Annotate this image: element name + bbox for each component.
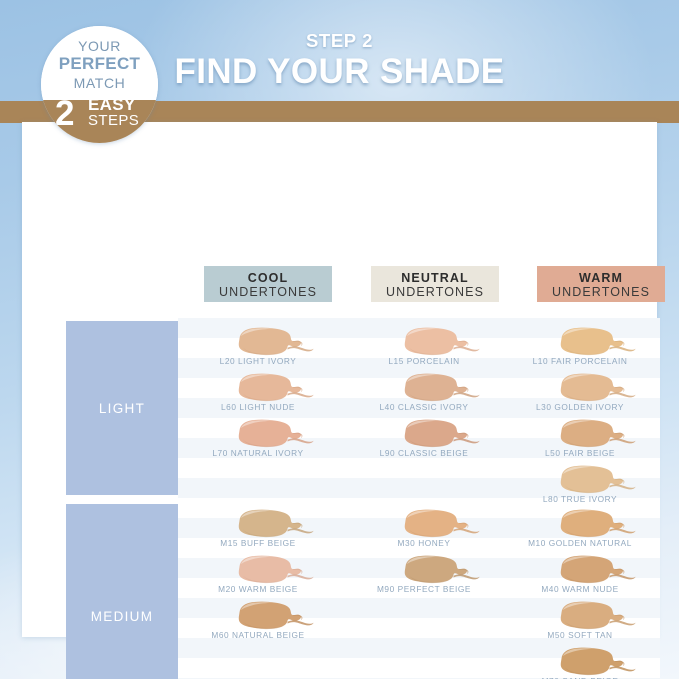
foundation-swatch-icon	[230, 326, 316, 357]
swatch-l15	[396, 326, 482, 357]
undertone-cool-title: COOL	[204, 271, 332, 285]
shade-cell[interactable]: M30 HONEY	[344, 508, 504, 554]
shade-cell[interactable]: M40 WARM NUDE	[500, 554, 660, 600]
undertone-header-neutral: NEUTRAL UNDERTONES	[371, 266, 499, 302]
shade-cell[interactable]: M70 SAND BEIGE	[500, 646, 660, 679]
foundation-swatch-icon	[230, 418, 316, 449]
foundation-swatch-icon	[230, 508, 316, 539]
perfect-match-badge: YOUR PERFECT MATCH 2 EASY STEPS	[41, 26, 158, 143]
swatch-m70	[552, 646, 638, 677]
swatch-m10	[552, 508, 638, 539]
shade-label: M20 WARM BEIGE	[178, 584, 338, 594]
shade-cell[interactable]: L70 NATURAL IVORY	[178, 418, 338, 464]
shade-label: M90 PERFECT BEIGE	[344, 584, 504, 594]
swatch-l20	[230, 326, 316, 357]
swatch-l70	[230, 418, 316, 449]
undertone-warm-title: WARM	[537, 271, 665, 285]
shade-label: M30 HONEY	[344, 538, 504, 548]
swatch-m90	[396, 554, 482, 585]
shade-cell[interactable]: L80 TRUE IVORY	[500, 464, 660, 510]
shade-cell[interactable]: L50 FAIR BEIGE	[500, 418, 660, 464]
foundation-swatch-icon	[552, 418, 638, 449]
foundation-swatch-icon	[396, 554, 482, 585]
badge-easy-label: EASY	[88, 96, 136, 113]
swatch-l60	[230, 372, 316, 403]
swatch-m40	[552, 554, 638, 585]
shade-cell[interactable]: M20 WARM BEIGE	[178, 554, 338, 600]
shade-cell[interactable]: M60 NATURAL BEIGE	[178, 600, 338, 646]
shade-label: L10 FAIR PORCELAIN	[500, 356, 660, 366]
badge-line-match: MATCH	[41, 75, 158, 91]
swatch-l40	[396, 372, 482, 403]
category-block-medium: MEDIUM	[66, 504, 178, 679]
shade-cell[interactable]: L20 LIGHT IVORY	[178, 326, 338, 372]
shade-label: M40 WARM NUDE	[500, 584, 660, 594]
foundation-swatch-icon	[396, 508, 482, 539]
category-block-light: LIGHT	[66, 321, 178, 495]
shade-label: L70 NATURAL IVORY	[178, 448, 338, 458]
foundation-swatch-icon	[552, 372, 638, 403]
foundation-swatch-icon	[396, 326, 482, 357]
foundation-swatch-icon	[552, 326, 638, 357]
badge-steps-label: STEPS	[88, 113, 139, 128]
swatch-l80	[552, 464, 638, 495]
shade-cell[interactable]: M50 SOFT TAN	[500, 600, 660, 646]
shade-label: L40 CLASSIC IVORY	[344, 402, 504, 412]
badge-line-your: YOUR	[41, 38, 158, 54]
shade-finder-page: STEP 2 FIND YOUR SHADE COOL UNDERTONES N…	[0, 0, 679, 679]
shade-cell[interactable]: L15 PORCELAIN	[344, 326, 504, 372]
foundation-swatch-icon	[396, 372, 482, 403]
undertone-neutral-title: NEUTRAL	[371, 271, 499, 285]
shade-cell[interactable]: M90 PERFECT BEIGE	[344, 554, 504, 600]
shade-cell[interactable]: L90 CLASSIC BEIGE	[344, 418, 504, 464]
undertone-warm-subtitle: UNDERTONES	[537, 285, 665, 299]
undertone-header-cool: COOL UNDERTONES	[204, 266, 332, 302]
shade-chart-card: COOL UNDERTONES NEUTRAL UNDERTONES WARM …	[22, 122, 657, 637]
shade-cell[interactable]: L60 LIGHT NUDE	[178, 372, 338, 418]
swatch-m60	[230, 600, 316, 631]
swatch-l30	[552, 372, 638, 403]
category-label-medium: MEDIUM	[91, 609, 154, 624]
foundation-swatch-icon	[396, 418, 482, 449]
undertone-neutral-subtitle: UNDERTONES	[371, 285, 499, 299]
shade-cell[interactable]: L30 GOLDEN IVORY	[500, 372, 660, 418]
shade-cell[interactable]: L10 FAIR PORCELAIN	[500, 326, 660, 372]
shade-label: L30 GOLDEN IVORY	[500, 402, 660, 412]
foundation-swatch-icon	[552, 554, 638, 585]
shade-label: L90 CLASSIC BEIGE	[344, 448, 504, 458]
shade-cell[interactable]: L40 CLASSIC IVORY	[344, 372, 504, 418]
swatch-l50	[552, 418, 638, 449]
foundation-swatch-icon	[552, 600, 638, 631]
category-label-light: LIGHT	[99, 401, 145, 416]
shade-label: L15 PORCELAIN	[344, 356, 504, 366]
shade-grid: L20 LIGHT IVORYL60 LIGHT NUDEL70 NATURAL…	[178, 318, 660, 679]
shade-cell[interactable]: M10 GOLDEN NATURAL	[500, 508, 660, 554]
swatch-m30	[396, 508, 482, 539]
swatch-l90	[396, 418, 482, 449]
undertone-header-warm: WARM UNDERTONES	[537, 266, 665, 302]
shade-label: M50 SOFT TAN	[500, 630, 660, 640]
undertone-cool-subtitle: UNDERTONES	[204, 285, 332, 299]
shade-label: M15 BUFF BEIGE	[178, 538, 338, 548]
badge-line-perfect: PERFECT	[41, 54, 158, 74]
shade-label: L20 LIGHT IVORY	[178, 356, 338, 366]
foundation-swatch-icon	[552, 646, 638, 677]
shade-label: M10 GOLDEN NATURAL	[500, 538, 660, 548]
foundation-swatch-icon	[230, 600, 316, 631]
shade-cell[interactable]: M15 BUFF BEIGE	[178, 508, 338, 554]
swatch-m20	[230, 554, 316, 585]
foundation-swatch-icon	[552, 508, 638, 539]
foundation-swatch-icon	[552, 464, 638, 495]
shade-label: M60 NATURAL BEIGE	[178, 630, 338, 640]
foundation-swatch-icon	[230, 372, 316, 403]
shade-label: L50 FAIR BEIGE	[500, 448, 660, 458]
badge-number: 2	[55, 96, 74, 131]
shade-label: L80 TRUE IVORY	[500, 494, 660, 504]
foundation-swatch-icon	[230, 554, 316, 585]
shade-label: L60 LIGHT NUDE	[178, 402, 338, 412]
swatch-m15	[230, 508, 316, 539]
swatch-m50	[552, 600, 638, 631]
swatch-l10	[552, 326, 638, 357]
